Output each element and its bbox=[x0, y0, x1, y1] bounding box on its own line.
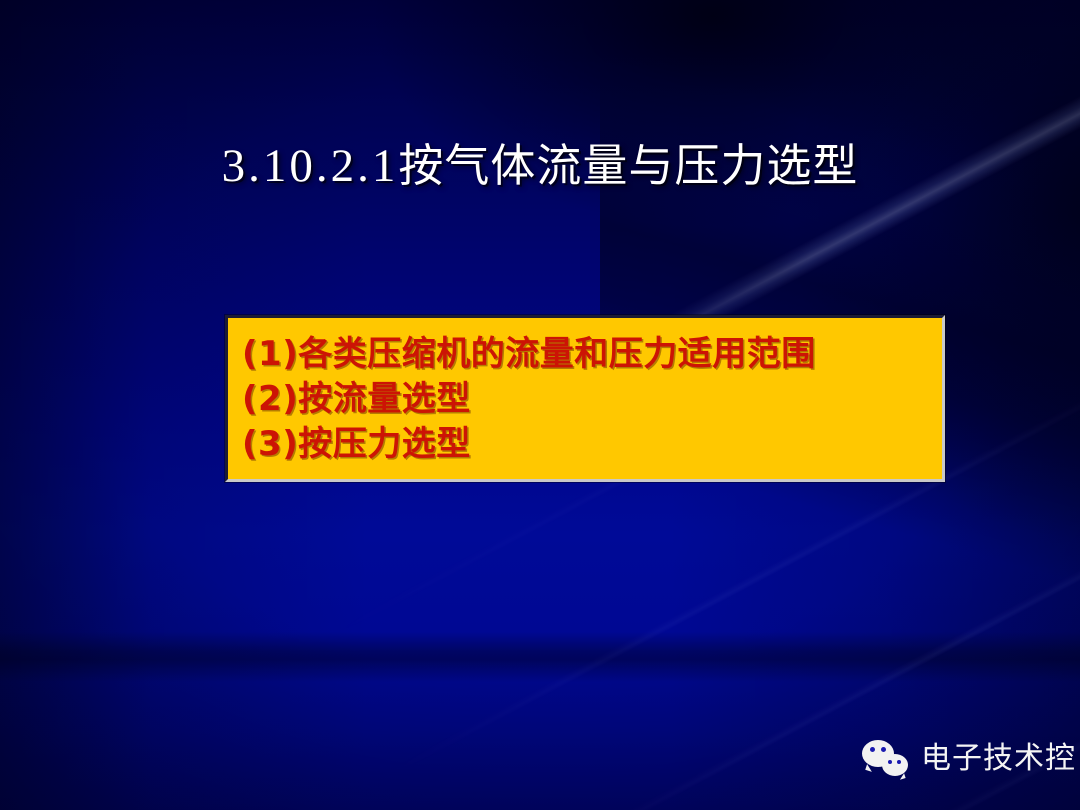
callout-line-1: (1)各类压缩机的流量和压力适用范围 bbox=[242, 332, 942, 377]
callout-box: (1)各类压缩机的流量和压力适用范围 (2)按流量选型 (3)按压力选型 bbox=[225, 315, 945, 482]
watermark-label: 电子技术控 bbox=[921, 738, 1076, 780]
wechat-dot-2 bbox=[881, 747, 886, 752]
wechat-dot-1 bbox=[870, 747, 875, 752]
wechat-icon bbox=[862, 738, 912, 780]
wechat-dot-3 bbox=[888, 760, 892, 764]
slide-title-text: 按气体流量与压力选型 bbox=[398, 139, 858, 192]
slide-title: 3.10.2.1按气体流量与压力选型 bbox=[0, 140, 1080, 193]
wechat-dot-4 bbox=[897, 760, 901, 764]
callout-line-3: (3)按压力选型 bbox=[242, 422, 942, 467]
wechat-bubble-small bbox=[882, 754, 908, 776]
callout-line-2: (2)按流量选型 bbox=[242, 377, 942, 422]
presentation-slide: 3.10.2.1按气体流量与压力选型 (1)各类压缩机的流量和压力适用范围 (2… bbox=[0, 0, 1080, 810]
watermark: 电子技术控 bbox=[862, 738, 1076, 780]
slide-title-number: 3.10.2.1 bbox=[222, 140, 399, 192]
